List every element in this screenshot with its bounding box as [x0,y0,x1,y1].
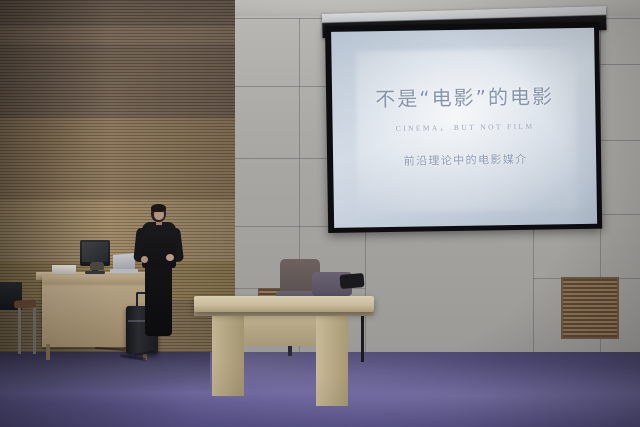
table-leg [316,314,348,406]
floor-shadow [0,352,210,392]
white-box-on-desk [52,265,76,274]
desk-leg [46,344,50,360]
presenter-hand-left [141,256,148,263]
monitor-foot [85,271,105,274]
side-chair-leg [18,308,21,354]
presenter-legs [145,266,172,336]
side-chair-leg [33,308,36,354]
wooden-louvre-vent [561,277,619,339]
lecture-hall-photo: 不是“电影”的电影 CINEMA， BUT NOT FILM 前沿理论中的电影媒… [0,0,640,427]
wooden-table [194,296,374,312]
table-leg [212,314,244,396]
table-apron [240,316,320,346]
presenter-standing [151,204,166,222]
projection-screen: 不是“电影”的电影 CINEMA， BUT NOT FILM 前沿理论中的电影媒… [325,22,602,233]
black-folding-chair [339,273,364,289]
desk-object [90,262,104,270]
screen-surface: 不是“电影”的电影 CINEMA， BUT NOT FILM 前沿理论中的电影媒… [331,28,597,228]
monitor-screen [82,242,108,262]
laptop-base [110,269,138,273]
presenter-hair [151,204,166,212]
slide-title: 不是“电影”的电影 [344,80,585,113]
presenter-hand-right [166,254,174,261]
